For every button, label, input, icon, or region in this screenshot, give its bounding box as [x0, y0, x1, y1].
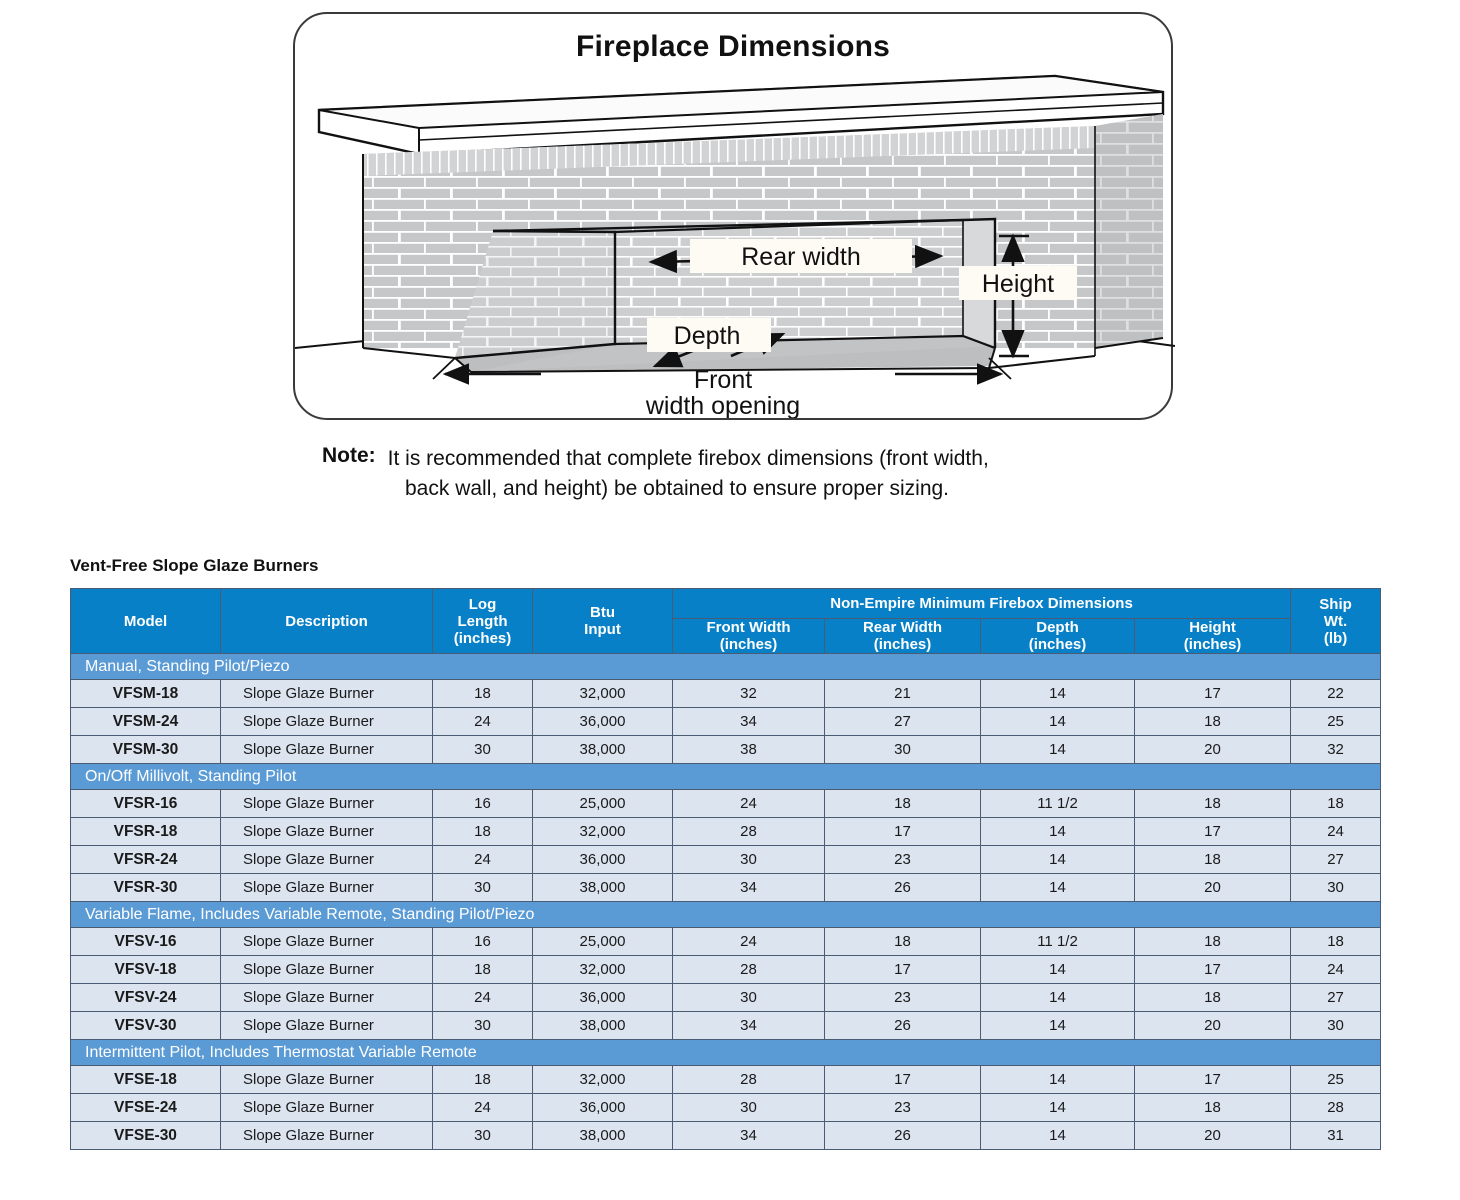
cell-ship-wt: 22: [1291, 680, 1381, 708]
cell-ship-wt: 24: [1291, 818, 1381, 846]
cell-depth: 14: [981, 736, 1135, 764]
cell-depth: 14: [981, 818, 1135, 846]
col-header-front-width-l2: (inches): [673, 636, 824, 653]
table-section-header: On/Off Millivolt, Standing Pilot: [71, 764, 1381, 790]
label-height: Height: [982, 270, 1054, 298]
cell-front-width: 34: [673, 1012, 825, 1040]
col-header-height: Height (inches): [1135, 619, 1291, 654]
cell-model: VFSR-24: [71, 846, 221, 874]
col-header-ship-wt-l3: (lb): [1291, 630, 1380, 647]
cell-front-width: 34: [673, 708, 825, 736]
cell-model: VFSV-16: [71, 928, 221, 956]
col-group-header-firebox-dimensions: Non-Empire Minimum Firebox Dimensions: [673, 589, 1291, 619]
note-block: Note: It is recommended that complete fi…: [322, 444, 1222, 504]
cell-model: VFSE-24: [71, 1094, 221, 1122]
cell-depth: 14: [981, 1066, 1135, 1094]
cell-model: VFSE-18: [71, 1066, 221, 1094]
fireplace-svg: Rear width Height Depth Front width ope: [295, 66, 1175, 418]
cell-height: 18: [1135, 1094, 1291, 1122]
page-root: Fireplace Dimensions: [0, 0, 1460, 1200]
col-header-rear-width-l2: (inches): [825, 636, 980, 653]
label-depth: Depth: [674, 322, 741, 350]
cell-rear-width: 17: [825, 956, 981, 984]
cell-front-width: 24: [673, 928, 825, 956]
cell-model: VFSR-30: [71, 874, 221, 902]
cell-btu: 32,000: [533, 818, 673, 846]
spec-table-wrapper: Model Description Log Length (inches) Bt…: [70, 588, 1380, 1150]
cell-log-length: 18: [433, 680, 533, 708]
cell-model: VFSV-24: [71, 984, 221, 1012]
cell-description: Slope Glaze Burner: [221, 846, 433, 874]
cell-front-width: 34: [673, 1122, 825, 1150]
table-row: VFSR-16Slope Glaze Burner1625,000241811 …: [71, 790, 1381, 818]
cell-ship-wt: 30: [1291, 874, 1381, 902]
cell-depth: 14: [981, 1094, 1135, 1122]
cell-front-width: 30: [673, 846, 825, 874]
cell-btu: 38,000: [533, 874, 673, 902]
col-header-depth-l1: Depth: [981, 619, 1134, 636]
cell-log-length: 24: [433, 708, 533, 736]
col-header-log-length-l1: Log: [433, 596, 532, 613]
cell-log-length: 16: [433, 790, 533, 818]
cell-depth: 14: [981, 874, 1135, 902]
cell-height: 18: [1135, 790, 1291, 818]
table-head: Model Description Log Length (inches) Bt…: [71, 589, 1381, 654]
cell-height: 20: [1135, 1122, 1291, 1150]
cell-ship-wt: 27: [1291, 846, 1381, 874]
cell-description: Slope Glaze Burner: [221, 874, 433, 902]
cell-model: VFSM-30: [71, 736, 221, 764]
cell-description: Slope Glaze Burner: [221, 1012, 433, 1040]
diagram-title: Fireplace Dimensions: [295, 30, 1171, 64]
cell-btu: 38,000: [533, 1122, 673, 1150]
cell-depth: 14: [981, 708, 1135, 736]
cell-log-length: 30: [433, 1012, 533, 1040]
col-header-ship-wt-l1: Ship: [1291, 596, 1380, 613]
col-header-depth-l2: (inches): [981, 636, 1134, 653]
cell-log-length: 30: [433, 874, 533, 902]
cell-btu: 36,000: [533, 708, 673, 736]
cell-ship-wt: 18: [1291, 790, 1381, 818]
col-header-description: Description: [221, 589, 433, 654]
cell-rear-width: 23: [825, 846, 981, 874]
cell-height: 17: [1135, 956, 1291, 984]
table-row: VFSR-18Slope Glaze Burner1832,0002817141…: [71, 818, 1381, 846]
cell-log-length: 24: [433, 846, 533, 874]
label-rear-width: Rear width: [741, 243, 861, 271]
cell-depth: 14: [981, 1122, 1135, 1150]
col-header-ship-wt-l2: Wt.: [1291, 613, 1380, 630]
cell-btu: 38,000: [533, 1012, 673, 1040]
cell-description: Slope Glaze Burner: [221, 928, 433, 956]
note-text-line-1: It is recommended that complete firebox …: [388, 444, 989, 474]
note-label: Note:: [322, 444, 376, 474]
cell-rear-width: 23: [825, 984, 981, 1012]
cell-log-length: 16: [433, 928, 533, 956]
cell-depth: 11 1/2: [981, 928, 1135, 956]
table-row: VFSV-24Slope Glaze Burner2436,0003023141…: [71, 984, 1381, 1012]
cell-height: 20: [1135, 736, 1291, 764]
table-body: Manual, Standing Pilot/PiezoVFSM-18Slope…: [71, 654, 1381, 1150]
cell-btu: 38,000: [533, 736, 673, 764]
col-header-rear-width: Rear Width (inches): [825, 619, 981, 654]
cell-model: VFSE-30: [71, 1122, 221, 1150]
cell-ship-wt: 25: [1291, 708, 1381, 736]
col-header-height-l2: (inches): [1135, 636, 1290, 653]
cell-log-length: 24: [433, 984, 533, 1012]
cell-rear-width: 18: [825, 928, 981, 956]
cell-log-length: 30: [433, 736, 533, 764]
cell-rear-width: 23: [825, 1094, 981, 1122]
cell-btu: 36,000: [533, 984, 673, 1012]
cell-ship-wt: 28: [1291, 1094, 1381, 1122]
cell-depth: 14: [981, 984, 1135, 1012]
cell-front-width: 28: [673, 1066, 825, 1094]
table-row: VFSM-30Slope Glaze Burner3038,0003830142…: [71, 736, 1381, 764]
fireplace-diagram-panel: Fireplace Dimensions: [293, 12, 1173, 420]
cell-description: Slope Glaze Burner: [221, 1094, 433, 1122]
cell-description: Slope Glaze Burner: [221, 708, 433, 736]
cell-front-width: 34: [673, 874, 825, 902]
cell-height: 18: [1135, 846, 1291, 874]
table-row: VFSR-24Slope Glaze Burner2436,0003023141…: [71, 846, 1381, 874]
table-row: VFSM-18Slope Glaze Burner1832,0003221141…: [71, 680, 1381, 708]
cell-log-length: 18: [433, 956, 533, 984]
table-row: VFSE-30Slope Glaze Burner3038,0003426142…: [71, 1122, 1381, 1150]
cell-ship-wt: 30: [1291, 1012, 1381, 1040]
cell-ship-wt: 32: [1291, 736, 1381, 764]
col-header-depth: Depth (inches): [981, 619, 1135, 654]
cell-rear-width: 26: [825, 1012, 981, 1040]
col-header-height-l1: Height: [1135, 619, 1290, 636]
col-header-log-length-l3: (inches): [433, 630, 532, 647]
cell-description: Slope Glaze Burner: [221, 1122, 433, 1150]
table-row: VFSV-16Slope Glaze Burner1625,000241811 …: [71, 928, 1381, 956]
label-width-opening: width opening: [645, 392, 800, 418]
cell-model: VFSV-18: [71, 956, 221, 984]
note-text-line-2: back wall, and height) be obtained to en…: [405, 474, 1222, 504]
cell-ship-wt: 27: [1291, 984, 1381, 1012]
table-header-row-group: Model Description Log Length (inches) Bt…: [71, 589, 1381, 619]
cell-description: Slope Glaze Burner: [221, 1066, 433, 1094]
cell-depth: 14: [981, 846, 1135, 874]
cell-height: 17: [1135, 680, 1291, 708]
cell-btu: 36,000: [533, 846, 673, 874]
cell-log-length: 18: [433, 818, 533, 846]
cell-height: 18: [1135, 708, 1291, 736]
cell-height: 20: [1135, 874, 1291, 902]
cell-btu: 32,000: [533, 680, 673, 708]
cell-btu: 25,000: [533, 928, 673, 956]
table-section-header: Variable Flame, Includes Variable Remote…: [71, 902, 1381, 928]
cell-depth: 14: [981, 1012, 1135, 1040]
cell-ship-wt: 25: [1291, 1066, 1381, 1094]
cell-height: 18: [1135, 984, 1291, 1012]
cell-front-width: 28: [673, 818, 825, 846]
cell-depth: 11 1/2: [981, 790, 1135, 818]
table-section-header: Intermittent Pilot, Includes Thermostat …: [71, 1040, 1381, 1066]
cell-rear-width: 30: [825, 736, 981, 764]
table-row: VFSE-24Slope Glaze Burner2436,0003023141…: [71, 1094, 1381, 1122]
cell-model: VFSV-30: [71, 1012, 221, 1040]
cell-rear-width: 17: [825, 1066, 981, 1094]
cell-height: 20: [1135, 1012, 1291, 1040]
col-header-model: Model: [71, 589, 221, 654]
cell-rear-width: 21: [825, 680, 981, 708]
cell-log-length: 24: [433, 1094, 533, 1122]
cell-front-width: 30: [673, 984, 825, 1012]
cell-depth: 14: [981, 956, 1135, 984]
col-header-btu-input: Btu Input: [533, 589, 673, 654]
cell-rear-width: 27: [825, 708, 981, 736]
table-row: VFSE-18Slope Glaze Burner1832,0002817141…: [71, 1066, 1381, 1094]
cell-front-width: 30: [673, 1094, 825, 1122]
cell-rear-width: 26: [825, 1122, 981, 1150]
cell-front-width: 28: [673, 956, 825, 984]
cell-height: 17: [1135, 1066, 1291, 1094]
col-header-log-length: Log Length (inches): [433, 589, 533, 654]
col-header-btu-l1: Btu: [533, 604, 672, 621]
cell-depth: 14: [981, 680, 1135, 708]
cell-btu: 32,000: [533, 1066, 673, 1094]
cell-front-width: 24: [673, 790, 825, 818]
col-header-ship-weight: Ship Wt. (lb): [1291, 589, 1381, 654]
col-header-front-width-l1: Front Width: [673, 619, 824, 636]
table-section-title: Manual, Standing Pilot/Piezo: [71, 654, 1381, 680]
cell-description: Slope Glaze Burner: [221, 790, 433, 818]
cell-model: VFSR-18: [71, 818, 221, 846]
table-row: VFSR-30Slope Glaze Burner3038,0003426142…: [71, 874, 1381, 902]
cell-btu: 36,000: [533, 1094, 673, 1122]
cell-model: VFSM-24: [71, 708, 221, 736]
cell-ship-wt: 24: [1291, 956, 1381, 984]
cell-height: 18: [1135, 928, 1291, 956]
cell-ship-wt: 31: [1291, 1122, 1381, 1150]
cell-rear-width: 18: [825, 790, 981, 818]
cell-description: Slope Glaze Burner: [221, 818, 433, 846]
cell-log-length: 18: [433, 1066, 533, 1094]
cell-rear-width: 17: [825, 818, 981, 846]
cell-btu: 32,000: [533, 956, 673, 984]
cell-rear-width: 26: [825, 874, 981, 902]
cell-front-width: 38: [673, 736, 825, 764]
cell-model: VFSR-16: [71, 790, 221, 818]
table-row: VFSV-18Slope Glaze Burner1832,0002817141…: [71, 956, 1381, 984]
table-section-title: Intermittent Pilot, Includes Thermostat …: [71, 1040, 1381, 1066]
cell-ship-wt: 18: [1291, 928, 1381, 956]
label-front: Front: [694, 366, 752, 394]
cell-height: 17: [1135, 818, 1291, 846]
table-row: VFSV-30Slope Glaze Burner3038,0003426142…: [71, 1012, 1381, 1040]
cell-description: Slope Glaze Burner: [221, 680, 433, 708]
table-section-title: On/Off Millivolt, Standing Pilot: [71, 764, 1381, 790]
col-header-rear-width-l1: Rear Width: [825, 619, 980, 636]
table-row: VFSM-24Slope Glaze Burner2436,0003427141…: [71, 708, 1381, 736]
cell-description: Slope Glaze Burner: [221, 984, 433, 1012]
table-caption: Vent-Free Slope Glaze Burners: [70, 556, 318, 576]
fireplace-illustration: Rear width Height Depth Front width ope: [295, 66, 1175, 418]
table-section-title: Variable Flame, Includes Variable Remote…: [71, 902, 1381, 928]
col-header-front-width: Front Width (inches): [673, 619, 825, 654]
cell-description: Slope Glaze Burner: [221, 956, 433, 984]
cell-front-width: 32: [673, 680, 825, 708]
cell-model: VFSM-18: [71, 680, 221, 708]
table-section-header: Manual, Standing Pilot/Piezo: [71, 654, 1381, 680]
cell-log-length: 30: [433, 1122, 533, 1150]
col-header-log-length-l2: Length: [433, 613, 532, 630]
spec-table: Model Description Log Length (inches) Bt…: [70, 588, 1381, 1150]
col-header-btu-l2: Input: [533, 621, 672, 638]
cell-description: Slope Glaze Burner: [221, 736, 433, 764]
cell-btu: 25,000: [533, 790, 673, 818]
